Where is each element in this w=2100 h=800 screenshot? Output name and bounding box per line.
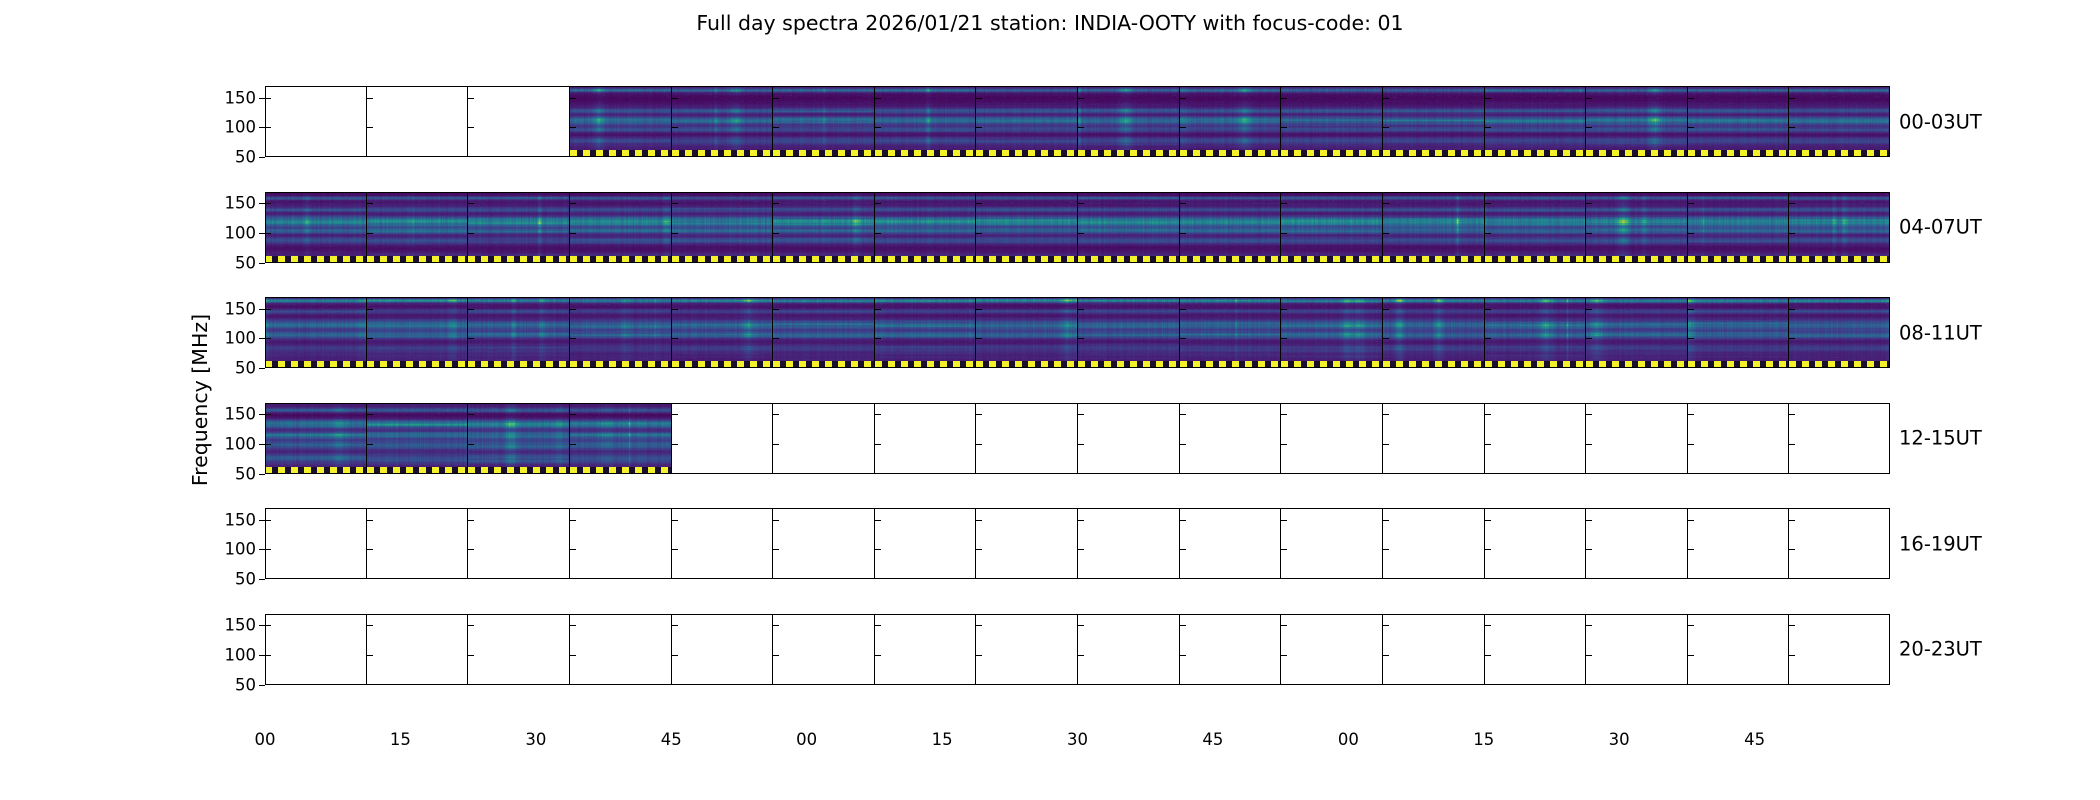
y-tick-mark <box>468 444 474 445</box>
flag-marker-bar <box>570 361 671 368</box>
y-tick-mark <box>1180 444 1186 445</box>
spectrogram-row: 5010015020-23UT <box>265 614 1890 685</box>
flag-marker-bar <box>1383 150 1484 157</box>
y-tick-label: 150 <box>225 299 257 318</box>
spectrogram-cell[interactable] <box>1180 192 1282 263</box>
spectrogram-image <box>773 297 874 368</box>
spectrogram-cell[interactable] <box>1078 508 1180 579</box>
y-tick-mark <box>976 625 982 626</box>
spectrogram-cell[interactable] <box>875 192 977 263</box>
y-tick-mark <box>875 98 881 99</box>
y-tick-mark <box>1281 549 1287 550</box>
spectrogram-cell[interactable] <box>1281 192 1383 263</box>
spectrogram-image <box>1281 86 1382 157</box>
y-tick-mark <box>1789 127 1795 128</box>
y-tick-mark <box>1688 414 1694 415</box>
y-tick-mark <box>1078 444 1084 445</box>
y-tick-mark <box>1485 309 1491 310</box>
spectrogram-cell[interactable] <box>672 86 774 157</box>
spectrogram-cell[interactable] <box>468 508 570 579</box>
y-tick-mark <box>570 233 576 234</box>
y-tick-mark <box>1586 549 1592 550</box>
y-tick-mark <box>1586 203 1592 204</box>
spectrogram-cell[interactable] <box>672 614 774 685</box>
spectrogram-image <box>875 297 976 368</box>
flag-marker-bar <box>773 150 874 157</box>
y-tick-mark <box>672 414 678 415</box>
spectrogram-cell[interactable] <box>672 297 774 368</box>
spectrogram-cell[interactable] <box>1688 297 1790 368</box>
spectrogram-cell[interactable] <box>1383 86 1485 157</box>
spectrogram-image <box>1383 192 1484 263</box>
y-tick-mark <box>1078 655 1084 656</box>
y-tick-mark <box>672 338 678 339</box>
spectrogram-cell[interactable] <box>1586 403 1688 474</box>
spectrogram-cell[interactable] <box>1180 297 1282 368</box>
flag-marker-bar <box>1281 150 1382 157</box>
spectrogram-cell[interactable] <box>875 86 977 157</box>
y-tick-mark <box>1485 444 1491 445</box>
spectrogram-cell[interactable] <box>1688 192 1790 263</box>
y-tick-line <box>259 338 265 339</box>
spectrogram-cell[interactable] <box>1789 403 1890 474</box>
y-tick-mark <box>1383 203 1389 204</box>
y-tick-mark <box>672 625 678 626</box>
spectrogram-cell[interactable] <box>1281 614 1383 685</box>
spectrogram-cell[interactable] <box>1078 403 1180 474</box>
spectrogram-cell[interactable] <box>367 403 469 474</box>
spectrogram-cell[interactable] <box>1586 192 1688 263</box>
spectrogram-image <box>1789 297 1890 368</box>
y-tick-mark <box>1078 309 1084 310</box>
y-tick-mark <box>1586 127 1592 128</box>
spectrogram-cell[interactable] <box>773 192 875 263</box>
y-tick-label: 50 <box>235 253 256 272</box>
y-tick-mark <box>773 309 779 310</box>
flag-marker-bar <box>672 361 773 368</box>
y-tick-mark <box>1383 127 1389 128</box>
y-tick-mark <box>1078 414 1084 415</box>
y-tick-mark <box>570 98 576 99</box>
y-tick-mark <box>672 520 678 521</box>
y-tick-mark <box>570 655 576 656</box>
spectrogram-cell[interactable] <box>265 508 367 579</box>
y-tick-mark <box>468 549 474 550</box>
y-tick-mark <box>1078 549 1084 550</box>
spectrogram-image <box>1485 297 1586 368</box>
y-tick-mark <box>1688 549 1694 550</box>
y-tick-mark <box>672 233 678 234</box>
spectrogram-image <box>672 86 773 157</box>
spectrogram-cell[interactable] <box>1383 614 1485 685</box>
spectrogram-cell[interactable] <box>1281 297 1383 368</box>
y-tick-mark <box>1383 655 1389 656</box>
flag-marker-bar <box>1586 361 1687 368</box>
y-tick-mark <box>976 414 982 415</box>
x-tick-label: 45 <box>1744 730 1765 749</box>
y-tick-mark <box>875 203 881 204</box>
y-tick-mark <box>976 444 982 445</box>
spectrogram-cell[interactable] <box>1078 614 1180 685</box>
spectrogram-cell[interactable] <box>875 614 977 685</box>
spectrogram-cell[interactable] <box>367 508 469 579</box>
y-tick-mark <box>265 520 271 521</box>
spectrogram-cell[interactable] <box>1688 508 1790 579</box>
spectrogram-cell[interactable] <box>265 403 367 474</box>
spectrogram-cell[interactable] <box>570 403 672 474</box>
spectrogram-cell[interactable] <box>570 614 672 685</box>
spectrogram-cell[interactable] <box>773 86 875 157</box>
spectrogram-image <box>1586 192 1687 263</box>
y-tick-line <box>259 263 265 264</box>
spectrogram-cell[interactable] <box>976 297 1078 368</box>
spectrogram-cell[interactable] <box>976 614 1078 685</box>
y-tick-label: 100 <box>225 540 257 559</box>
spectrogram-cell[interactable] <box>1485 192 1587 263</box>
y-tick-mark <box>773 338 779 339</box>
spectrogram-cell[interactable] <box>1281 403 1383 474</box>
y-tick-mark <box>1586 625 1592 626</box>
y-tick-mark <box>672 203 678 204</box>
y-tick-mark <box>570 520 576 521</box>
spectrogram-cell[interactable] <box>1688 614 1790 685</box>
spectrogram-image <box>1586 86 1687 157</box>
row-time-label: 20-23UT <box>1899 638 1982 661</box>
spectrogram-cell[interactable] <box>1281 508 1383 579</box>
y-tick-mark <box>672 309 678 310</box>
y-tick-mark <box>1180 549 1186 550</box>
y-tick-mark <box>773 233 779 234</box>
spectrogram-cell[interactable] <box>1688 403 1790 474</box>
y-tick-mark <box>468 203 474 204</box>
y-tick-mark <box>1383 549 1389 550</box>
spectrogram-cell[interactable] <box>570 508 672 579</box>
spectrogram-cell[interactable] <box>875 508 977 579</box>
y-tick-mark <box>1180 98 1186 99</box>
x-tick-label: 45 <box>661 730 682 749</box>
spectrogram-cell[interactable] <box>1078 86 1180 157</box>
spectrogram-image <box>1281 192 1382 263</box>
spectrogram-image <box>265 403 366 474</box>
y-tick-mark <box>1789 309 1795 310</box>
spectrogram-cell[interactable] <box>1281 86 1383 157</box>
y-tick-mark <box>468 98 474 99</box>
spectrogram-cell[interactable] <box>976 508 1078 579</box>
y-tick-label: 50 <box>235 675 256 694</box>
y-tick-label: 150 <box>225 88 257 107</box>
spectrogram-cell[interactable] <box>570 192 672 263</box>
y-tick-label: 50 <box>235 359 256 378</box>
flag-marker-bar <box>265 467 366 474</box>
spectrogram-image <box>875 192 976 263</box>
y-tick-mark <box>265 203 271 204</box>
y-tick-mark <box>976 520 982 521</box>
y-tick-mark <box>468 127 474 128</box>
flag-marker-bar <box>976 256 1077 263</box>
spectrogram-image <box>1485 86 1586 157</box>
spectrogram-cell[interactable] <box>265 614 367 685</box>
spectrogram-image <box>976 297 1077 368</box>
spectrogram-image <box>1789 192 1890 263</box>
y-tick-mark <box>367 309 373 310</box>
y-tick-mark <box>1688 233 1694 234</box>
y-tick-mark <box>875 338 881 339</box>
spectrogram-cell[interactable] <box>1180 403 1282 474</box>
y-tick-mark <box>875 233 881 234</box>
y-tick-mark <box>976 309 982 310</box>
y-tick-mark <box>1281 655 1287 656</box>
spectrogram-cell[interactable] <box>773 297 875 368</box>
flag-marker-bar <box>468 361 569 368</box>
y-tick-line <box>259 625 265 626</box>
spectrogram-image <box>672 192 773 263</box>
y-tick-label: 50 <box>235 464 256 483</box>
spectrogram-cell[interactable] <box>773 614 875 685</box>
row-cells <box>265 403 1890 474</box>
y-tick-mark <box>265 549 271 550</box>
spectrogram-cell[interactable] <box>1078 297 1180 368</box>
spectrogram-image <box>468 192 569 263</box>
flag-marker-bar <box>672 256 773 263</box>
spectrogram-cell[interactable] <box>468 192 570 263</box>
spectrogram-cell[interactable] <box>1078 192 1180 263</box>
spectrogram-image <box>1383 86 1484 157</box>
y-tick-mark <box>1180 414 1186 415</box>
spectrogram-cell[interactable] <box>875 403 977 474</box>
y-tick-mark <box>1485 98 1491 99</box>
y-tick-mark <box>570 444 576 445</box>
spectrogram-cell[interactable] <box>672 403 774 474</box>
flag-marker-bar <box>265 256 366 263</box>
y-tick-mark <box>468 520 474 521</box>
x-tick-label: 15 <box>932 730 953 749</box>
spectrogram-image <box>570 86 671 157</box>
spectrogram-image <box>773 192 874 263</box>
y-tick-mark <box>773 444 779 445</box>
flag-marker-bar <box>265 361 366 368</box>
y-tick-mark <box>265 414 271 415</box>
spectrogram-image <box>367 403 468 474</box>
y-tick-mark <box>976 233 982 234</box>
spectrogram-cell[interactable] <box>1485 508 1587 579</box>
flag-marker-bar <box>1789 361 1890 368</box>
spectrogram-cell[interactable] <box>875 297 977 368</box>
spectrogram-cell[interactable] <box>367 192 469 263</box>
row-cells <box>265 86 1890 157</box>
y-axis-label: Frequency [MHz] <box>188 0 214 250</box>
y-tick-mark <box>1586 655 1592 656</box>
y-tick-mark <box>672 655 678 656</box>
spectrogram-cell[interactable] <box>367 297 469 368</box>
y-tick-mark <box>1586 520 1592 521</box>
spectrogram-cell[interactable] <box>1180 86 1282 157</box>
spectrogram-cell[interactable] <box>1383 403 1485 474</box>
y-tick-mark <box>1281 444 1287 445</box>
spectrogram-cell[interactable] <box>1789 86 1890 157</box>
spectrogram-cell[interactable] <box>1180 614 1282 685</box>
spectrogram-cell[interactable] <box>1485 297 1587 368</box>
y-tick-mark <box>1180 520 1186 521</box>
y-tick-mark <box>1180 233 1186 234</box>
y-tick-mark <box>976 338 982 339</box>
spectrogram-cell[interactable] <box>1383 297 1485 368</box>
y-tick-mark <box>1586 414 1592 415</box>
spectrogram-cell[interactable] <box>976 192 1078 263</box>
y-tick-mark <box>773 98 779 99</box>
spectrogram-cell[interactable] <box>570 86 672 157</box>
spectrogram-cell[interactable] <box>570 297 672 368</box>
y-tick-label: 100 <box>225 329 257 348</box>
y-tick-mark <box>773 655 779 656</box>
spectrogram-cell[interactable] <box>976 86 1078 157</box>
y-tick-label: 50 <box>235 148 256 167</box>
spectrogram-image <box>367 192 468 263</box>
spectrogram-cell[interactable] <box>1485 86 1587 157</box>
y-tick-mark <box>1586 338 1592 339</box>
spectrogram-image <box>265 297 366 368</box>
y-tick-mark <box>1789 625 1795 626</box>
y-tick-mark <box>1281 338 1287 339</box>
y-tick-mark <box>976 549 982 550</box>
spectrogram-cell[interactable] <box>468 86 570 157</box>
spectrogram-cell[interactable] <box>773 403 875 474</box>
y-tick-mark <box>367 655 373 656</box>
flag-marker-bar <box>1485 150 1586 157</box>
y-tick-mark <box>1789 520 1795 521</box>
y-tick-mark <box>570 414 576 415</box>
y-tick-mark <box>367 233 373 234</box>
flag-marker-bar <box>367 467 468 474</box>
y-tick-label: 150 <box>225 616 257 635</box>
spectrogram-cell[interactable] <box>367 614 469 685</box>
spectrogram-cell[interactable] <box>265 86 367 157</box>
y-tick-line <box>259 414 265 415</box>
y-tick-mark <box>1281 414 1287 415</box>
y-tick-mark <box>1078 338 1084 339</box>
y-tick-mark <box>265 625 271 626</box>
y-tick-label: 150 <box>225 510 257 529</box>
spectrogram-cell[interactable] <box>468 614 570 685</box>
flag-marker-bar <box>1789 150 1890 157</box>
y-tick-mark <box>1688 625 1694 626</box>
y-tick-line <box>259 444 265 445</box>
y-tick-mark <box>1180 625 1186 626</box>
y-tick-line <box>259 474 265 475</box>
y-tick-mark <box>1485 414 1491 415</box>
y-tick-line <box>259 685 265 686</box>
y-tick-mark <box>1485 338 1491 339</box>
x-tick-label: 30 <box>1067 730 1088 749</box>
y-tick-mark <box>1383 520 1389 521</box>
row-time-label: 16-19UT <box>1899 532 1982 555</box>
spectrogram-cell[interactable] <box>1586 614 1688 685</box>
y-tick-mark <box>1078 98 1084 99</box>
y-tick-mark <box>1383 414 1389 415</box>
flag-marker-bar <box>976 150 1077 157</box>
spectrogram-cell[interactable] <box>1789 192 1890 263</box>
spectrogram-row: 5010015004-07UT <box>265 192 1890 263</box>
spectrogram-image <box>1078 297 1179 368</box>
spectrogram-cell[interactable] <box>468 297 570 368</box>
y-tick-line <box>259 157 265 158</box>
flag-marker-bar <box>875 256 976 263</box>
y-tick-mark <box>875 520 881 521</box>
spectrogram-image <box>468 403 569 474</box>
y-tick-mark <box>1688 444 1694 445</box>
spectrogram-cell[interactable] <box>1789 614 1890 685</box>
y-tick-line <box>259 579 265 580</box>
flag-marker-bar <box>875 361 976 368</box>
spectrogram-cell[interactable] <box>1688 86 1790 157</box>
row-time-label: 00-03UT <box>1899 110 1982 133</box>
spectrogram-cell[interactable] <box>773 508 875 579</box>
spectrogram-cell[interactable] <box>1180 508 1282 579</box>
spectrogram-cell[interactable] <box>265 192 367 263</box>
spectrogram-cell[interactable] <box>1586 508 1688 579</box>
spectrogram-image <box>1688 192 1789 263</box>
y-tick-mark <box>875 414 881 415</box>
y-tick-line <box>259 520 265 521</box>
y-tick-mark <box>773 127 779 128</box>
spectrogram-cell[interactable] <box>1383 508 1485 579</box>
spectrogram-row: 5010015008-11UT <box>265 297 1890 368</box>
spectrogram-image <box>1485 192 1586 263</box>
y-tick-line <box>259 127 265 128</box>
x-tick-label: 15 <box>1473 730 1494 749</box>
spectrogram-image <box>672 297 773 368</box>
spectrogram-image <box>1180 297 1281 368</box>
y-tick-mark <box>265 444 271 445</box>
spectrogram-cell[interactable] <box>367 86 469 157</box>
y-tick-mark <box>773 549 779 550</box>
y-tick-mark <box>1383 233 1389 234</box>
y-tick-mark <box>1586 98 1592 99</box>
y-tick-label: 50 <box>235 570 256 589</box>
spectrogram-cell[interactable] <box>672 192 774 263</box>
spectrogram-image <box>1383 297 1484 368</box>
spectrogram-cell[interactable] <box>1586 86 1688 157</box>
spectrogram-cell[interactable] <box>1789 508 1890 579</box>
spectrogram-cell[interactable] <box>1383 192 1485 263</box>
y-tick-mark <box>1281 127 1287 128</box>
y-tick-mark <box>468 414 474 415</box>
spectrogram-cell[interactable] <box>976 403 1078 474</box>
y-tick-mark <box>367 127 373 128</box>
spectrogram-cell[interactable] <box>672 508 774 579</box>
y-tick-mark <box>1485 233 1491 234</box>
spectrogram-cell[interactable] <box>1485 614 1587 685</box>
y-tick-line <box>259 203 265 204</box>
spectrogram-image <box>875 86 976 157</box>
spectrogram-cell[interactable] <box>1485 403 1587 474</box>
y-tick-mark <box>367 625 373 626</box>
y-tick-mark <box>1281 520 1287 521</box>
y-tick-mark <box>367 549 373 550</box>
y-tick-mark <box>1789 203 1795 204</box>
flag-marker-bar <box>875 150 976 157</box>
spectrogram-cell[interactable] <box>265 297 367 368</box>
flag-marker-bar <box>1078 361 1179 368</box>
flag-marker-bar <box>1180 361 1281 368</box>
flag-marker-bar <box>1180 150 1281 157</box>
spectrogram-cell[interactable] <box>1789 297 1890 368</box>
spectrogram-cell[interactable] <box>1586 297 1688 368</box>
row-time-label: 12-15UT <box>1899 427 1982 450</box>
y-tick-line <box>259 368 265 369</box>
y-tick-mark <box>1180 127 1186 128</box>
flag-marker-bar <box>570 467 671 474</box>
spectrogram-cell[interactable] <box>468 403 570 474</box>
